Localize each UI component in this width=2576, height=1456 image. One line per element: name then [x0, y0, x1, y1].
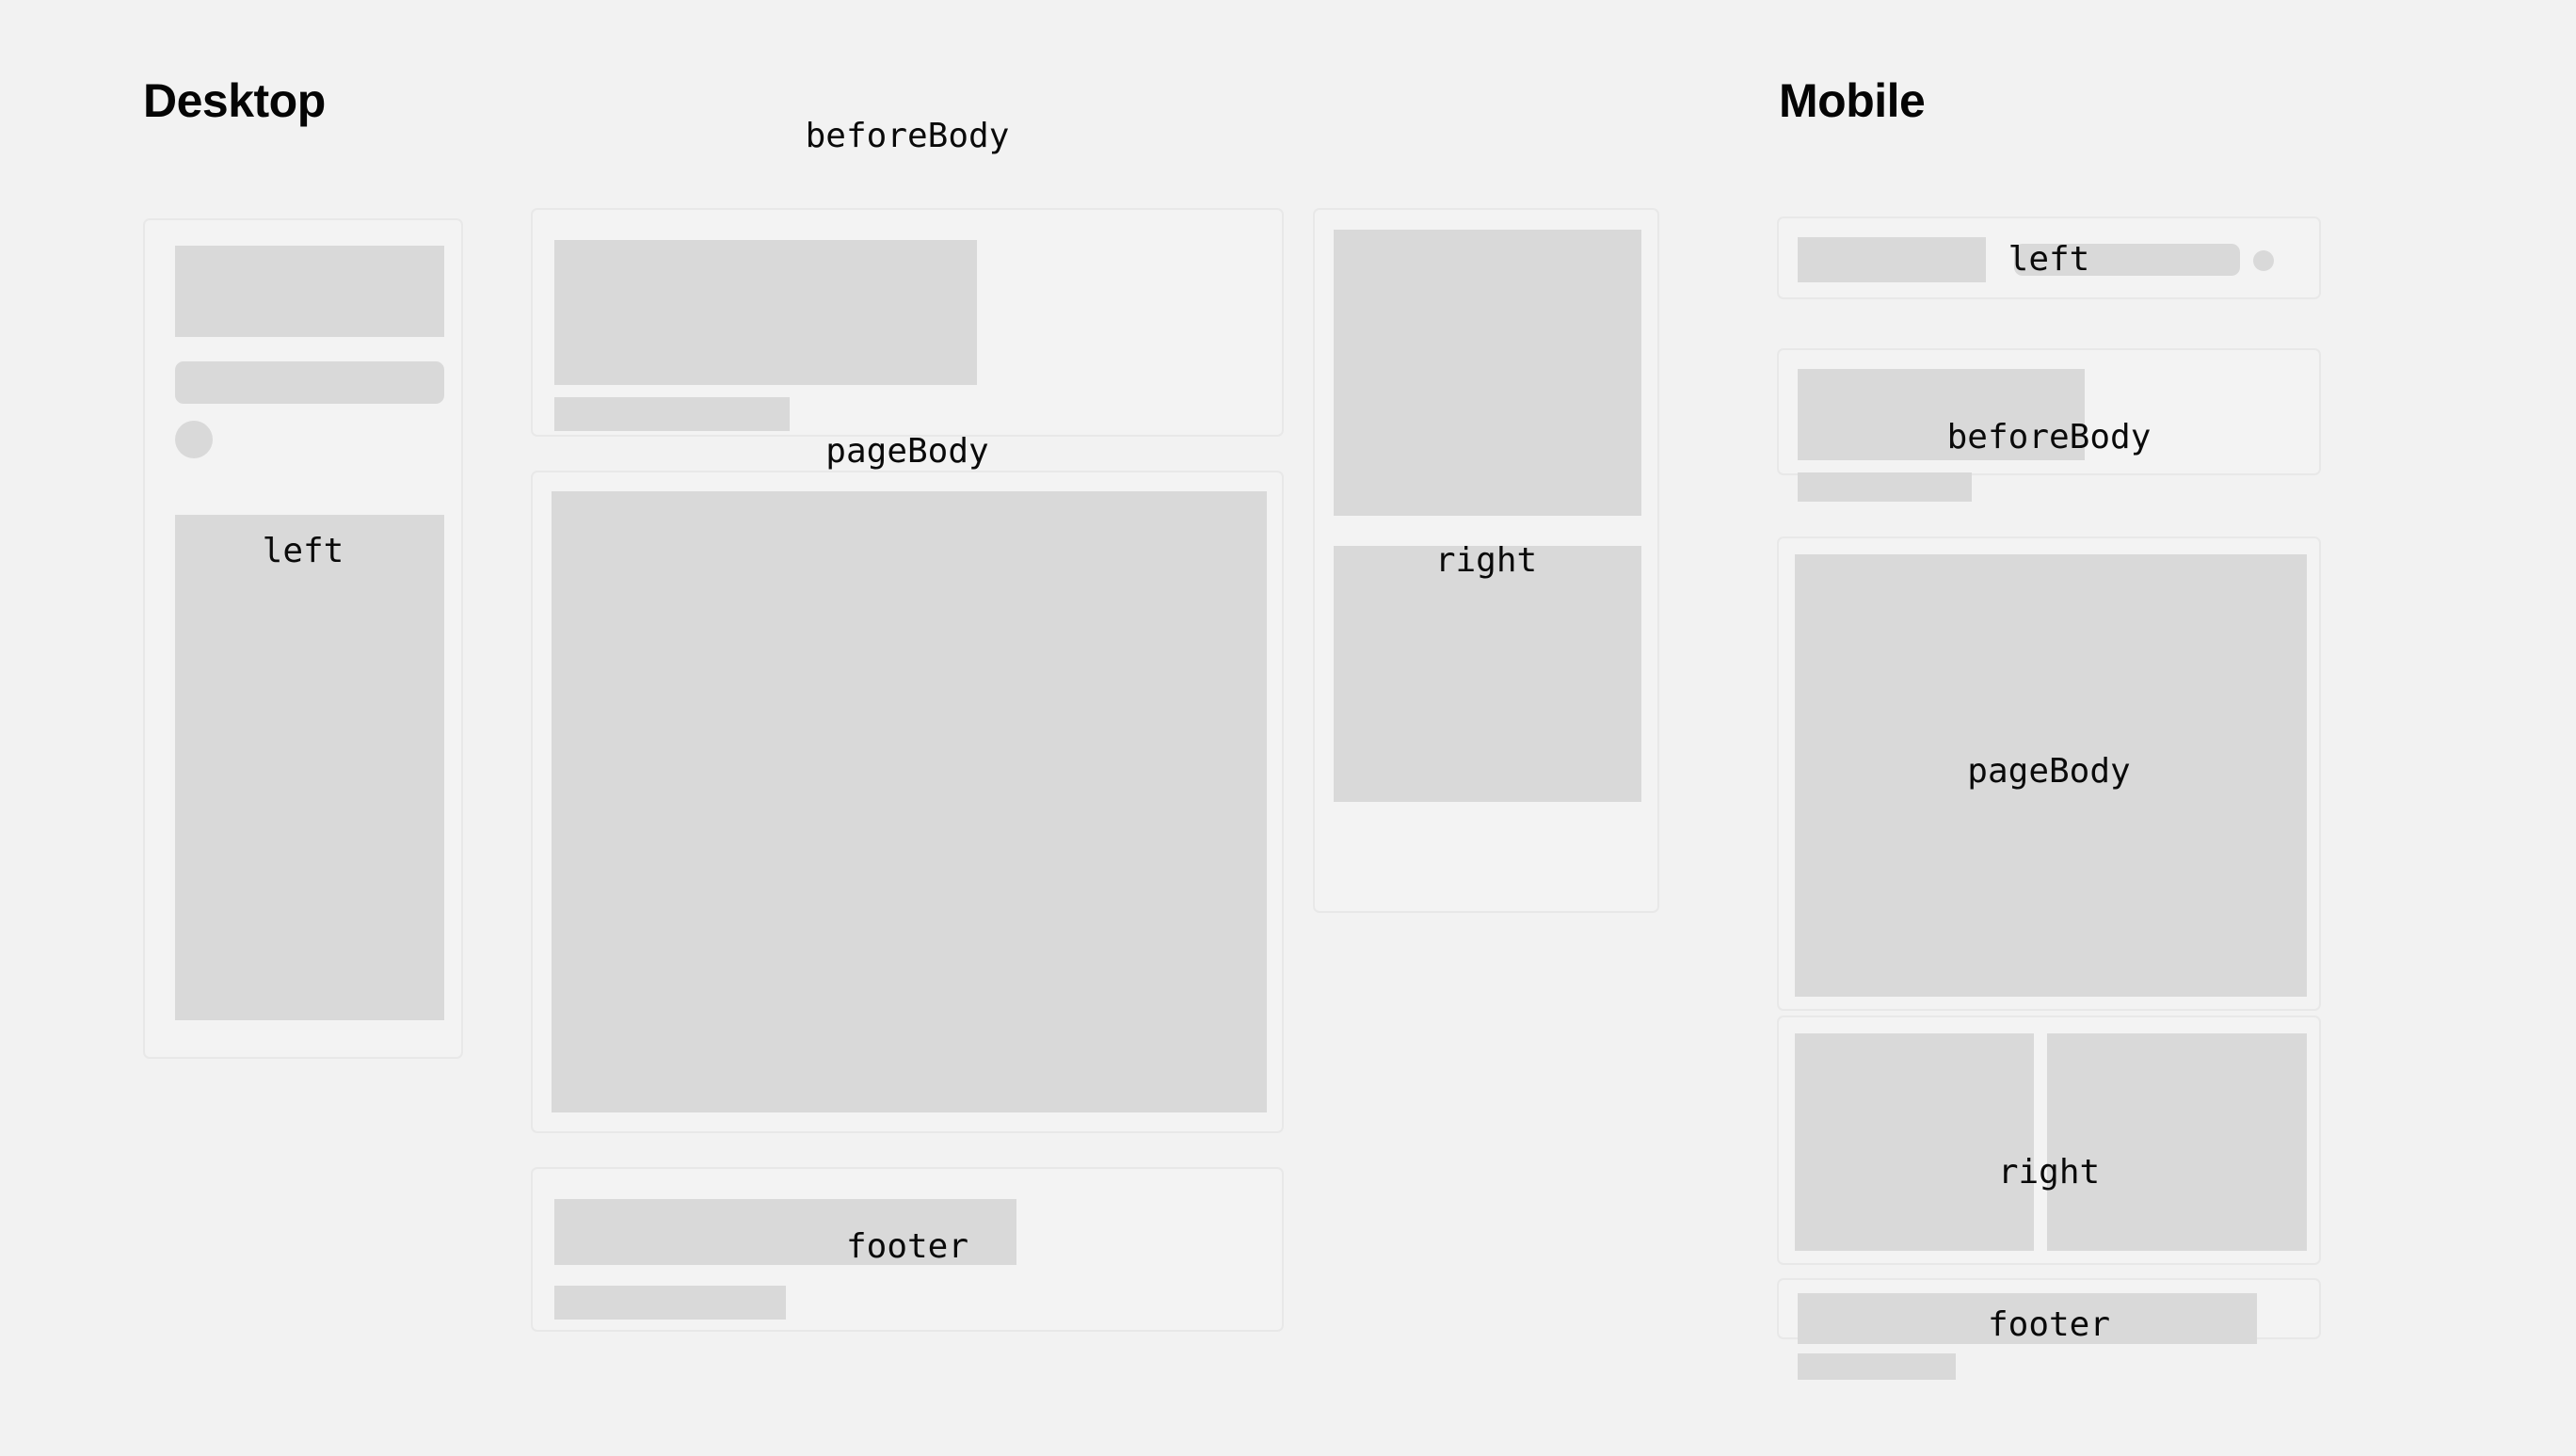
panel-inner	[1779, 350, 2319, 473]
panel-inner	[1779, 218, 2319, 297]
skeleton-block	[552, 491, 1267, 1112]
skeleton-block	[175, 515, 444, 1020]
mobile-region-beforebody-panel[interactable]	[1777, 348, 2321, 475]
skeleton-block	[2047, 1033, 2307, 1251]
skeleton-block	[1795, 1033, 2034, 1251]
panel-inner	[533, 1169, 1282, 1330]
skeleton-block	[1798, 237, 1986, 282]
panel-inner	[1779, 538, 2319, 1009]
skeleton-bar	[1798, 1353, 1956, 1380]
skeleton-block	[554, 240, 977, 385]
desktop-region-beforebody-panel[interactable]	[531, 208, 1284, 437]
skeleton-block	[1798, 369, 2085, 460]
panel-inner	[1779, 1017, 2319, 1263]
mobile-region-footer-panel[interactable]	[1777, 1278, 2321, 1339]
mobile-region-right-panel[interactable]	[1777, 1016, 2321, 1265]
skeleton-bar	[554, 397, 790, 431]
panel-inner	[533, 210, 1282, 435]
skeleton-bar	[1798, 472, 1972, 502]
panel-inner	[1315, 210, 1657, 911]
skeleton-bar	[554, 1199, 1016, 1265]
circle-placeholder-icon	[2253, 250, 2274, 271]
skeleton-bar	[175, 361, 444, 404]
panel-inner	[533, 472, 1282, 1131]
page-title-desktop: Desktop	[143, 77, 326, 124]
skeleton-bar	[554, 1286, 786, 1320]
panel-inner	[1779, 1280, 2319, 1337]
skeleton-block	[1334, 230, 1641, 516]
desktop-region-label-beforebody: beforeBody	[531, 120, 1284, 153]
skeleton-block	[175, 246, 444, 337]
desktop-region-right-panel[interactable]	[1313, 208, 1659, 913]
skeleton-bar	[1798, 1293, 2257, 1344]
desktop-region-left-panel[interactable]	[143, 218, 463, 1059]
desktop-region-footer-panel[interactable]	[531, 1167, 1284, 1332]
circle-placeholder-icon	[175, 421, 213, 458]
panel-inner	[145, 220, 461, 1057]
skeleton-block	[1334, 546, 1641, 802]
page-title-mobile: Mobile	[1779, 77, 1925, 124]
desktop-region-label-pagebody: pageBody	[531, 435, 1284, 469]
skeleton-block	[1795, 554, 2307, 997]
desktop-region-pagebody-panel[interactable]	[531, 471, 1284, 1133]
skeleton-bar	[2014, 244, 2240, 276]
mobile-region-pagebody-panel[interactable]	[1777, 536, 2321, 1011]
mobile-region-left-panel[interactable]	[1777, 216, 2321, 299]
